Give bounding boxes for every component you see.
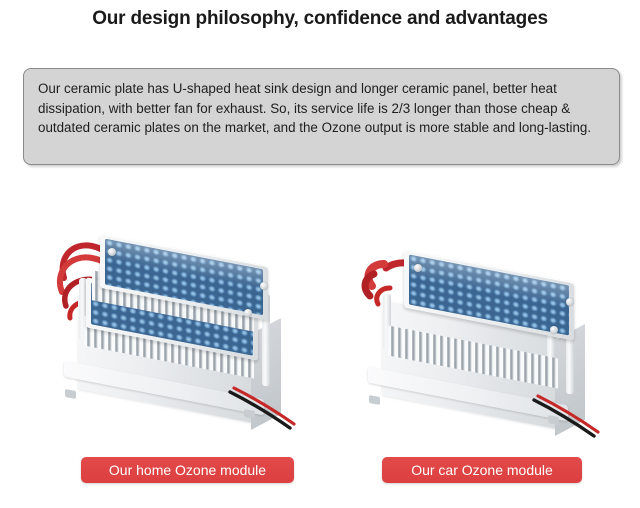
- module-foot-left: [369, 395, 380, 405]
- caption-badge-car-module: Our car Ozone module: [382, 457, 582, 483]
- product-image-car-module: [352, 238, 602, 453]
- screw-icon: [108, 248, 116, 256]
- page-title: Our design philosophy, confidence and ad…: [0, 8, 640, 30]
- ozone-module-car: [352, 238, 602, 453]
- screw-icon: [414, 264, 422, 272]
- screw-icon: [260, 282, 268, 290]
- description-box: Our ceramic plate has U-shaped heat sink…: [23, 68, 620, 165]
- screw-icon: [244, 309, 252, 317]
- page-root: Our design philosophy, confidence and ad…: [0, 0, 640, 508]
- ozone-module-home: [48, 232, 298, 447]
- screw-icon: [566, 298, 574, 306]
- caption-badge-home-module: Our home Ozone module: [81, 457, 294, 483]
- screw-icon: [550, 326, 558, 334]
- product-image-home-module: [48, 232, 298, 447]
- module-foot-left: [65, 389, 76, 399]
- description-text: Our ceramic plate has U-shaped heat sink…: [38, 79, 606, 138]
